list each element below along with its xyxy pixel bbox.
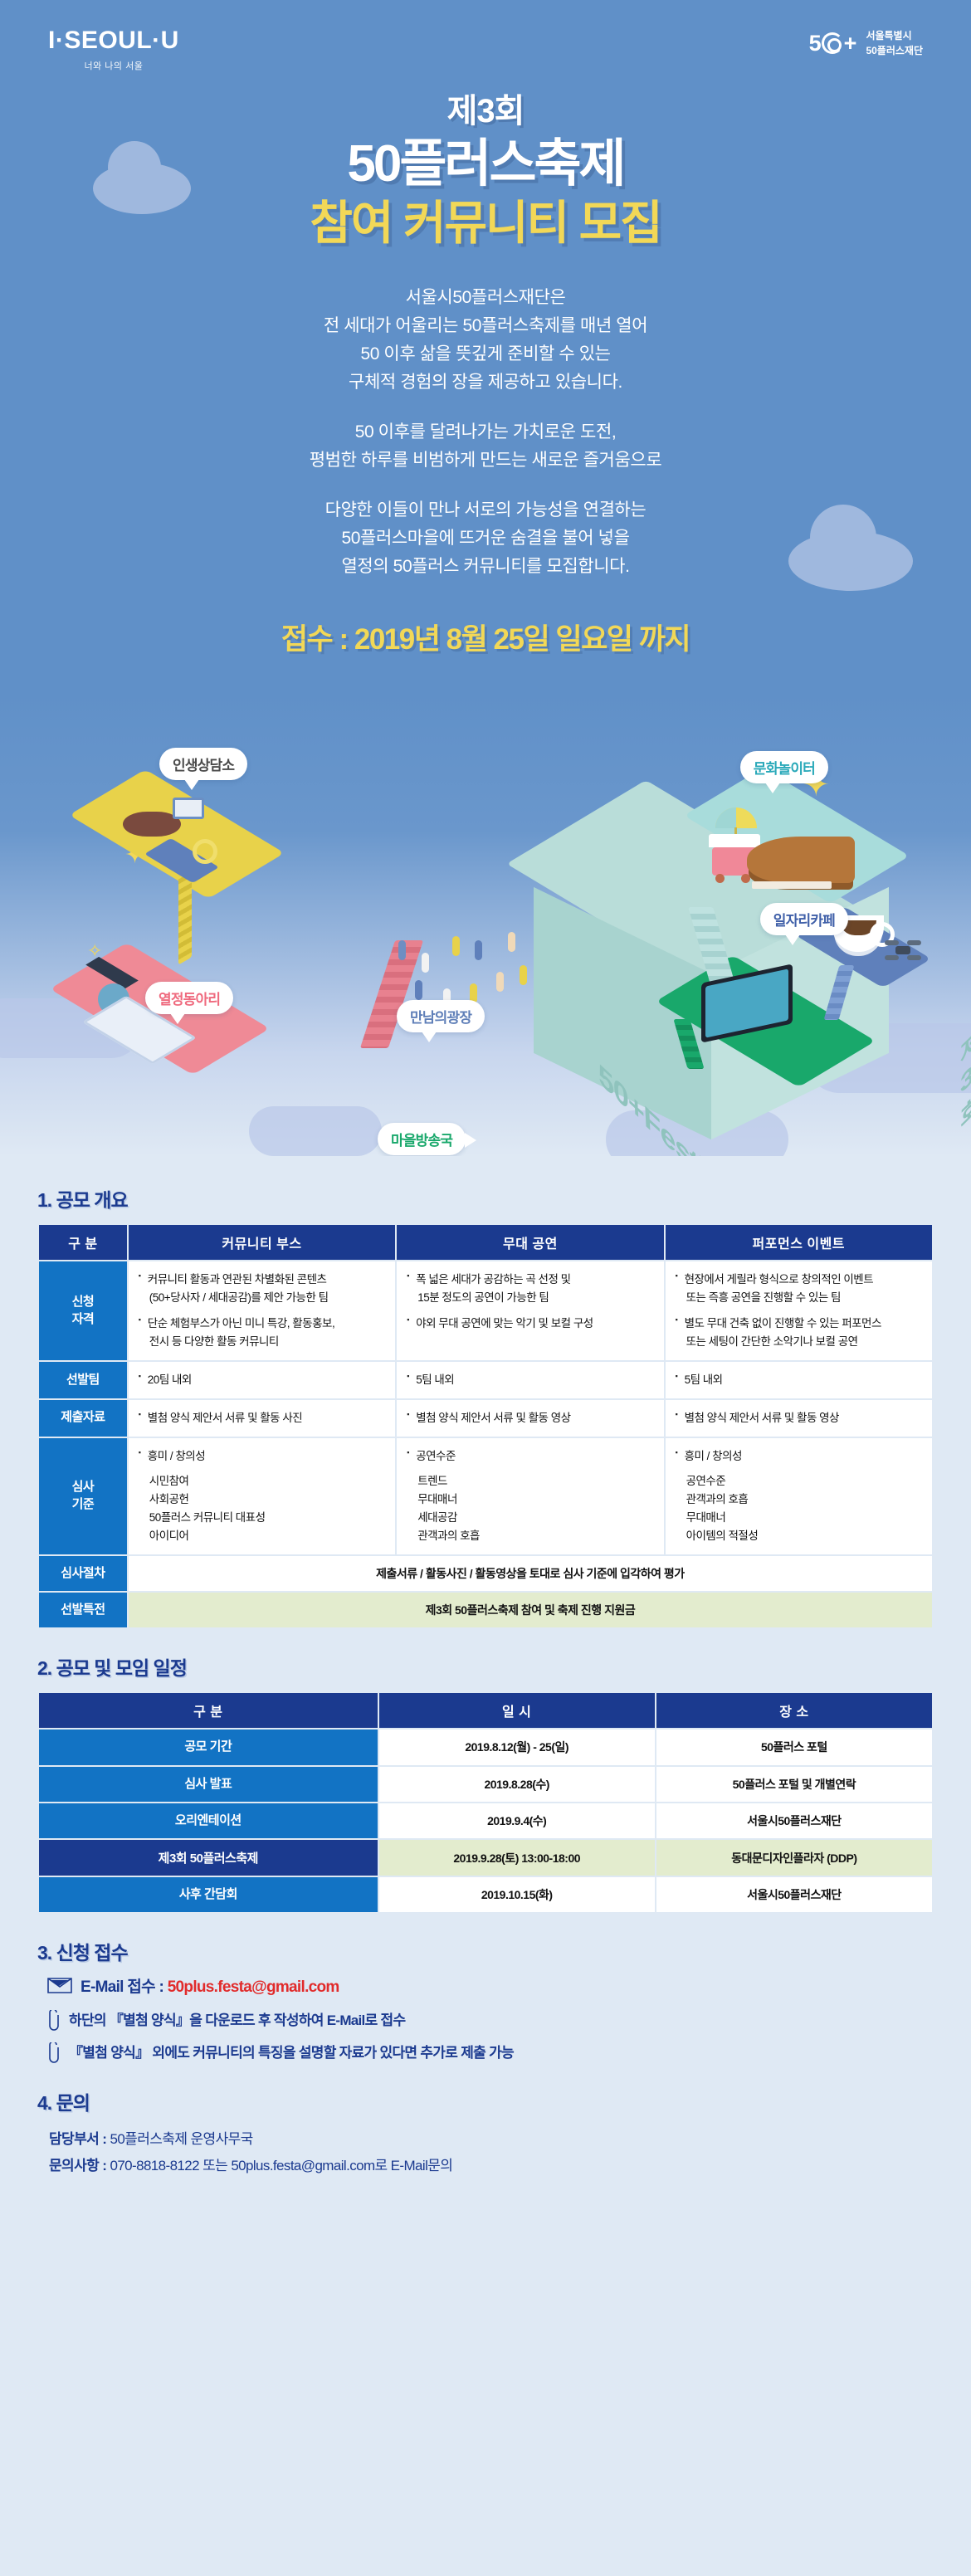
header-community-booth: 커뮤니티 부스 xyxy=(128,1224,396,1261)
header-schedule-place: 장 소 xyxy=(656,1692,933,1729)
cell-teams-stage: 5팀 내외 xyxy=(396,1361,664,1399)
table-row: 신청자격 커뮤니티 활동과 연관된 차별화된 콘텐츠(50+당사자 / 세대공감… xyxy=(38,1261,933,1360)
paragraph-line: 전 세대가 어울리는 50플러스축제를 매년 열어 xyxy=(0,312,971,340)
schedule-label-highlight: 제3회 50플러스축제 xyxy=(38,1839,378,1876)
criteria-line: 트렌드 xyxy=(407,1472,653,1490)
schedule-date: 2019.9.28(토) 13:00-18:00 xyxy=(378,1839,656,1876)
foundation-name-line1: 서울특별시 xyxy=(866,28,923,43)
email-application-line: E-Mail 접수 : 50plus.festa@gmail.com xyxy=(47,1976,934,1999)
row-label-benefit: 선발특전 xyxy=(38,1592,128,1628)
application-note-2: 『별첨 양식』 외에도 커뮤니티의 특징을 설명할 자료가 있다면 추가로 제출… xyxy=(47,2042,934,2064)
paragraph-line: 50 이후를 달려나가는 가치로운 도전, xyxy=(0,418,971,446)
hero-title-group: 제3회 50플러스축제 참여 커뮤니티 모집 xyxy=(0,84,971,251)
bullet-item: 5팀 내외 xyxy=(407,1371,653,1389)
criteria-line: 세대공감 xyxy=(407,1509,653,1527)
cell-criteria-event: 흥미 / 창의성 공연수준 관객과의 호흡 무대매너 아이템의 적절성 xyxy=(665,1437,933,1555)
paragraph-3: 다양한 이들이 만나 서로의 가능성을 연결하는 50플러스마을에 뜨거운 숨결… xyxy=(0,496,971,581)
bullet-item: 별첨 양식 제안서 서류 및 활동 영상 xyxy=(407,1409,653,1427)
schedule-label: 오리엔테이션 xyxy=(38,1803,378,1839)
header-schedule-date: 일 시 xyxy=(378,1692,656,1729)
tag-culture-playground[interactable]: 문화놀이터 xyxy=(740,751,828,783)
schedule-date: 2019.8.12(월) - 25(일) xyxy=(378,1729,656,1765)
circle-ring-icon xyxy=(822,32,843,54)
criteria-line: 시민참여 xyxy=(139,1472,385,1490)
edition-label: 제3회 xyxy=(0,84,971,132)
section3-title: 3. 신청 접수 xyxy=(37,1937,934,1965)
crowd-figure xyxy=(398,940,406,960)
table-header-row: 구 분 커뮤니티 부스 무대 공연 퍼포먼스 이벤트 xyxy=(38,1224,933,1261)
criteria-line: 관객과의 호흡 xyxy=(407,1527,653,1545)
criteria-line: 50플러스 커뮤니티 대표성 xyxy=(139,1509,385,1527)
cell-submission-booth: 별첨 양식 제안서 서류 및 활동 사진 xyxy=(128,1399,396,1437)
foundation-name: 서울특별시 50플러스재단 xyxy=(866,28,923,58)
bullet-sub-line: 전시 등 다양한 활동 커뮤니티 xyxy=(148,1333,385,1351)
tag-life-counseling[interactable]: 인생상담소 xyxy=(159,748,247,780)
criteria-line: 공연수준 xyxy=(676,1472,922,1490)
foundation-logo: 5 + 서울특별시 50플러스재단 xyxy=(809,28,923,58)
crowd-figure xyxy=(415,980,422,1000)
cell-qualification-stage: 폭 넓은 세대가 공감하는 곡 선정 및15분 정도의 공연이 가능한 팀 야외… xyxy=(396,1261,664,1360)
tag-passion-club[interactable]: 열정동아리 xyxy=(145,982,233,1014)
header-category: 구 분 xyxy=(38,1224,128,1261)
schedule-place: 서울시50플러스재단 xyxy=(656,1876,933,1913)
bullet-item: 별첨 양식 제안서 서류 및 활동 사진 xyxy=(139,1409,385,1427)
fifty-plus-mark: 5 + xyxy=(809,31,856,56)
row-label-selected-teams: 선발팀 xyxy=(38,1361,128,1399)
piano-illustration xyxy=(747,837,855,883)
paragraph-line: 50 이후 삶을 뜻깊게 준비할 수 있는 xyxy=(0,340,971,368)
bullet-sub-line: 또는 세팅이 간단한 소악기나 보컬 공연 xyxy=(685,1333,922,1351)
cell-submission-event: 별첨 양식 제안서 서류 및 활동 영상 xyxy=(665,1399,933,1437)
cell-submission-stage: 별첨 양식 제안서 서류 및 활동 영상 xyxy=(396,1399,664,1437)
criteria-line: 아이템의 적절성 xyxy=(676,1527,922,1545)
crowd-figure xyxy=(496,972,504,992)
cell-qualification-event: 현장에서 게릴라 형식으로 창의적인 이벤트또는 즉흥 공연을 진행할 수 있는… xyxy=(665,1261,933,1360)
cell-teams-booth: 20팀 내외 xyxy=(128,1361,396,1399)
header-schedule-category: 구 분 xyxy=(38,1692,378,1729)
criteria-line: 무대매너 xyxy=(676,1509,922,1527)
row-label-criteria: 심사기준 xyxy=(38,1437,128,1555)
criteria-line: 아이디어 xyxy=(139,1527,385,1545)
email-label: E-Mail 접수 : xyxy=(81,1978,168,1996)
application-note-2-text: 『별첨 양식』 외에도 커뮤니티의 특징을 설명할 자료가 있다면 추가로 제출… xyxy=(69,2042,514,2063)
contact-dept-line: 담당부서 : 50플러스축제 운영사무국 xyxy=(49,2126,934,2153)
mark-plus: + xyxy=(844,31,856,56)
contact-info: 담당부서 : 50플러스축제 운영사무국 문의사항 : 070-8818-812… xyxy=(49,2126,934,2180)
bullet-sub-line: 15분 정도의 공연이 가능한 팀 xyxy=(416,1289,653,1307)
schedule-date: 2019.8.28(수) xyxy=(378,1766,656,1803)
schedule-table: 구 분 일 시 장 소 공모 기간 2019.8.12(월) - 25(일) 5… xyxy=(37,1691,934,1914)
paragraph-line: 서울시50플러스재단은 xyxy=(0,284,971,312)
section4-title: 4. 문의 xyxy=(37,2087,934,2115)
schedule-date: 2019.9.4(수) xyxy=(378,1803,656,1839)
festival-subtitle: 참여 커뮤니티 모집 xyxy=(0,195,971,251)
table-row: 선발특전 제3회 50플러스축제 참여 및 축제 진행 지원금 xyxy=(38,1592,933,1628)
table-row: 제출자료 별첨 양식 제안서 서류 및 활동 사진 별첨 양식 제안서 서류 및… xyxy=(38,1399,933,1437)
criteria-line: 사회공헌 xyxy=(139,1490,385,1509)
poster: I·SEOUL·U 너와 나의 서울 5 + 서울특별시 50플러스재단 제3회… xyxy=(0,0,971,2213)
cell-process-value: 제출서류 / 활동사진 / 활동영상을 토대로 심사 기준에 입각하여 평가 xyxy=(128,1555,933,1592)
bullet-item: 커뮤니티 활동과 연관된 차별화된 콘텐츠(50+당사자 / 세대공감)를 제안… xyxy=(139,1271,385,1307)
tag-village-broadcast[interactable]: 마을방송국 xyxy=(378,1123,466,1155)
paragraph-2: 50 이후를 달려나가는 가치로운 도전, 평범한 하루를 비범하게 만드는 새… xyxy=(0,418,971,475)
bullet-item: 5팀 내외 xyxy=(676,1371,922,1389)
paperclip-icon xyxy=(47,2010,61,2032)
application-note-1: 하단의 『별첨 양식』을 다운로드 후 작성하여 E-Mail로 접수 xyxy=(47,2010,934,2032)
paragraph-line: 평범한 하루를 비범하게 만드는 새로운 즐거움으로 xyxy=(0,446,971,475)
content-section: 1. 공모 개요 구 분 커뮤니티 부스 무대 공연 퍼포먼스 이벤트 신청자격… xyxy=(0,1156,971,2213)
block-edition-label: 제3회 xyxy=(960,1015,971,1138)
contact-inquiry-value: 070-8818-8122 또는 50plus.festa@gmail.com로… xyxy=(110,2158,452,2173)
cell-criteria-booth: 흥미 / 창의성 시민참여 사회공헌 50플러스 커뮤니티 대표성 아이디어 xyxy=(128,1437,396,1555)
paragraph-line: 구체적 경험의 장을 제공하고 있습니다. xyxy=(0,368,971,397)
row-label-qualification: 신청자격 xyxy=(38,1261,128,1360)
header-stage-performance: 무대 공연 xyxy=(396,1224,664,1261)
table-row: 심사기준 흥미 / 창의성 시민참여 사회공헌 50플러스 커뮤니티 대표성 아… xyxy=(38,1437,933,1555)
schedule-label: 사후 간담회 xyxy=(38,1876,378,1913)
criteria-line: 무대매너 xyxy=(407,1490,653,1509)
row-label-submission: 제출자료 xyxy=(38,1399,128,1437)
schedule-place: 50플러스 포털 및 개별연락 xyxy=(656,1766,933,1803)
schedule-place: 서울시50플러스재단 xyxy=(656,1803,933,1839)
tag-meeting-square[interactable]: 만남의광장 xyxy=(397,1000,485,1032)
crowd-figure xyxy=(422,953,429,973)
cell-qualification-booth: 커뮤니티 활동과 연관된 차별화된 콘텐츠(50+당사자 / 세대공감)를 제안… xyxy=(128,1261,396,1360)
overview-table: 구 분 커뮤니티 부스 무대 공연 퍼포먼스 이벤트 신청자격 커뮤니티 활동과… xyxy=(37,1223,934,1629)
table-row: 심사절차 제출서류 / 활동사진 / 활동영상을 토대로 심사 기준에 입각하여… xyxy=(38,1555,933,1592)
crowd-figure xyxy=(508,932,515,952)
festival-title: 50플러스축제 xyxy=(0,135,971,193)
header-performance-event: 퍼포먼스 이벤트 xyxy=(665,1224,933,1261)
schedule-label: 공모 기간 xyxy=(38,1729,378,1765)
schedule-place: 50플러스 포털 xyxy=(656,1729,933,1765)
bullet-item: 흥미 / 창의성 xyxy=(139,1447,385,1466)
schedule-place: 동대문디자인플라자 (DDP) xyxy=(656,1839,933,1876)
mark-digit: 5 xyxy=(809,31,821,56)
application-deadline: 접수 : 2019년 8월 25일 일요일 까지 xyxy=(0,616,971,658)
bullet-item: 단순 체험부스가 아닌 미니 특강, 활동홍보,전시 등 다양한 활동 커뮤니티 xyxy=(139,1315,385,1351)
foundation-name-line2: 50플러스재단 xyxy=(866,43,923,58)
bullet-item: 야외 무대 공연에 맞는 악기 및 보컬 구성 xyxy=(407,1315,653,1333)
table-row: 심사 발표 2019.8.28(수) 50플러스 포털 및 개별연락 xyxy=(38,1766,933,1803)
schedule-date: 2019.10.15(화) xyxy=(378,1876,656,1913)
application-note-1-text: 하단의 『별첨 양식』을 다운로드 후 작성하여 E-Mail로 접수 xyxy=(69,2010,405,2031)
cell-benefit-value: 제3회 50플러스축제 참여 및 축제 진행 지원금 xyxy=(128,1592,933,1628)
bullet-sub-line: (50+당사자 / 세대공감)를 제안 가능한 팀 xyxy=(148,1289,385,1307)
table-row: 사후 간담회 2019.10.15(화) 서울시50플러스재단 xyxy=(38,1876,933,1913)
bullet-item: 별도 무대 건축 없이 진행할 수 있는 퍼포먼스또는 세팅이 간단한 소악기나… xyxy=(676,1315,922,1351)
table-row: 오리엔테이션 2019.9.4(수) 서울시50플러스재단 xyxy=(38,1803,933,1839)
envelope-icon xyxy=(47,1976,72,1994)
application-notes: E-Mail 접수 : 50plus.festa@gmail.com 하단의 『… xyxy=(37,1976,934,2064)
paragraph-1: 서울시50플러스재단은 전 세대가 어울리는 50플러스축제를 매년 열어 50… xyxy=(0,284,971,397)
crowd-figure xyxy=(520,965,527,985)
section1-title: 1. 공모 개요 xyxy=(37,1184,934,1212)
i-seoul-u-logo: I·SEOUL·U 너와 나의 서울 xyxy=(48,28,179,72)
table-row: 공모 기간 2019.8.12(월) - 25(일) 50플러스 포털 xyxy=(38,1729,933,1765)
crowd-figure xyxy=(452,936,460,956)
paperclip-icon xyxy=(47,2042,61,2064)
contact-inquiry-line: 문의사항 : 070-8818-8122 또는 50plus.festa@gma… xyxy=(49,2153,934,2179)
section2-title: 2. 공모 및 모임 일정 xyxy=(37,1652,934,1681)
contact-inquiry-label: 문의사항 : xyxy=(49,2158,110,2173)
isometric-illustration: ✦ ✦ ✧ 50+Festival 제3회 xyxy=(0,691,971,1156)
tag-job-cafe[interactable]: 일자리카페 xyxy=(760,903,848,935)
crowd-figure xyxy=(475,940,482,960)
row-label-process: 심사절차 xyxy=(38,1555,128,1592)
cloud-decoration xyxy=(249,1106,382,1156)
bullet-item: 흥미 / 창의성 xyxy=(676,1447,922,1466)
hero-description: 서울시50플러스재단은 전 세대가 어울리는 50플러스축제를 매년 열어 50… xyxy=(0,284,971,581)
hero-section: I·SEOUL·U 너와 나의 서울 5 + 서울특별시 50플러스재단 제3회… xyxy=(0,0,971,691)
contact-dept-value: 50플러스축제 운영사무국 xyxy=(110,2131,252,2147)
bullet-item: 별첨 양식 제안서 서류 및 활동 영상 xyxy=(676,1409,922,1427)
contact-dept-label: 담당부서 : xyxy=(49,2131,110,2147)
criteria-line: 관객과의 호흡 xyxy=(676,1490,922,1509)
i-seoul-u-wordmark: I·SEOUL·U xyxy=(48,28,179,53)
table-row: 선발팀 20팀 내외 5팀 내외 5팀 내외 xyxy=(38,1361,933,1399)
bullet-item: 현장에서 게릴라 형식으로 창의적인 이벤트또는 즉흥 공연을 진행할 수 있는… xyxy=(676,1271,922,1307)
laptop-illustration xyxy=(173,798,204,819)
drone-icon xyxy=(885,940,921,960)
table-header-row: 구 분 일 시 장 소 xyxy=(38,1692,933,1729)
bullet-item: 공연수준 xyxy=(407,1447,653,1466)
bullet-sub-line: 또는 즉흥 공연을 진행할 수 있는 팀 xyxy=(685,1289,922,1307)
schedule-label: 심사 발표 xyxy=(38,1766,378,1803)
email-line-text: E-Mail 접수 : 50plus.festa@gmail.com xyxy=(81,1976,339,1999)
bullet-item: 20팀 내외 xyxy=(139,1371,385,1389)
paragraph-line: 50플러스마을에 뜨거운 숨결을 불어 넣을 xyxy=(0,524,971,553)
email-address[interactable]: 50plus.festa@gmail.com xyxy=(168,1978,339,1996)
paragraph-line: 열정의 50플러스 커뮤니티를 모집합니다. xyxy=(0,553,971,581)
i-seoul-u-tagline: 너와 나의 서울 xyxy=(48,59,179,72)
cell-criteria-stage: 공연수준 트렌드 무대매너 세대공감 관객과의 호흡 xyxy=(396,1437,664,1555)
bullet-item: 폭 넓은 세대가 공감하는 곡 선정 및15분 정도의 공연이 가능한 팀 xyxy=(407,1271,653,1307)
table-row: 제3회 50플러스축제 2019.9.28(토) 13:00-18:00 동대문… xyxy=(38,1839,933,1876)
hero-logo-bar: I·SEOUL·U 너와 나의 서울 5 + 서울특별시 50플러스재단 xyxy=(0,0,971,72)
cell-teams-event: 5팀 내외 xyxy=(665,1361,933,1399)
platform-counseling xyxy=(69,769,285,899)
paragraph-line: 다양한 이들이 만나 서로의 가능성을 연결하는 xyxy=(0,496,971,524)
